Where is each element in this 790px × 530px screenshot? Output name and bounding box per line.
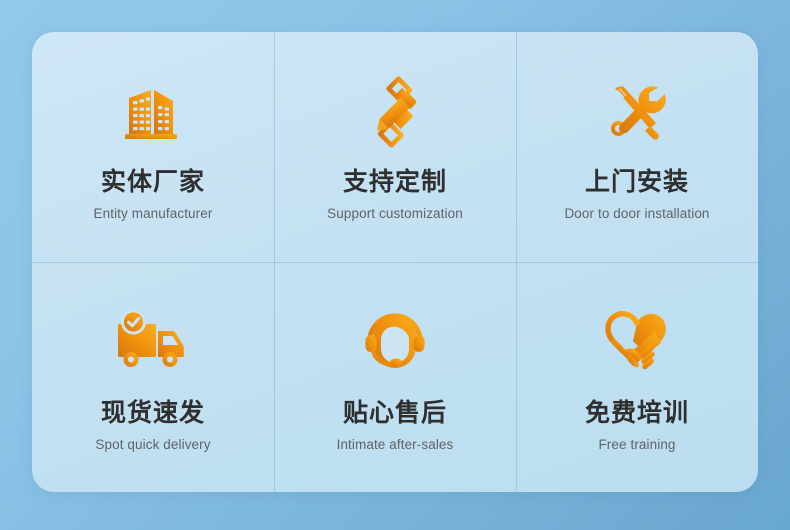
feature-subtitle: Entity manufacturer xyxy=(94,206,213,222)
feature-subtitle: Free training xyxy=(598,437,675,453)
page-root: 实体厂家 Entity manufacturer xyxy=(0,0,790,530)
building-icon xyxy=(110,72,196,152)
feature-title: 现货速发 xyxy=(101,399,205,428)
wrench-screwdriver-icon xyxy=(594,72,680,152)
feature-cell-support-customization[interactable]: 支持定制 Support customization xyxy=(274,32,516,262)
feature-title: 支持定制 xyxy=(343,168,447,197)
feature-subtitle: Support customization xyxy=(327,206,463,222)
feature-cell-door-to-door-installation[interactable]: 上门安装 Door to door installation xyxy=(516,32,758,262)
delivery-truck-check-icon xyxy=(110,301,196,379)
feature-subtitle: Spot quick delivery xyxy=(95,437,210,453)
feature-title: 免费培训 xyxy=(585,399,689,428)
feature-subtitle: Door to door installation xyxy=(564,206,709,222)
feature-title: 贴心售后 xyxy=(343,399,447,428)
headset-support-icon xyxy=(352,301,438,379)
pencil-ruler-icon xyxy=(352,72,438,152)
feature-grid: 实体厂家 Entity manufacturer xyxy=(32,32,758,492)
feature-cell-spot-quick-delivery[interactable]: 现货速发 Spot quick delivery xyxy=(32,262,274,492)
feature-cell-free-training[interactable]: 免费培训 Free training xyxy=(516,262,758,492)
feature-title: 上门安装 xyxy=(585,168,689,197)
feature-subtitle: Intimate after-sales xyxy=(337,437,454,453)
feature-card: 实体厂家 Entity manufacturer xyxy=(32,32,758,492)
feature-title: 实体厂家 xyxy=(101,168,205,197)
handshake-heart-icon xyxy=(594,301,680,379)
feature-cell-intimate-after-sales[interactable]: 贴心售后 Intimate after-sales xyxy=(274,262,516,492)
feature-cell-entity-manufacturer[interactable]: 实体厂家 Entity manufacturer xyxy=(32,32,274,262)
